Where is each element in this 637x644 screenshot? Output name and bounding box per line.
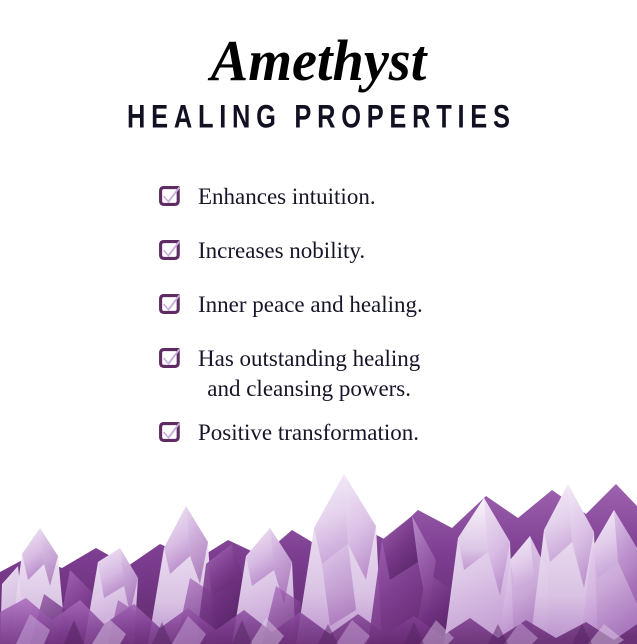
checked-checkbox-icon xyxy=(158,184,182,208)
checked-checkbox-icon xyxy=(158,346,182,370)
amethyst-crystal-cluster xyxy=(0,444,637,644)
checked-checkbox-icon xyxy=(158,420,182,444)
checked-checkbox-icon xyxy=(158,238,182,262)
list-item: Inner peace and healing. xyxy=(0,290,637,320)
list-item-label: Has outstanding healing and cleansing po… xyxy=(182,344,420,404)
list-item-label: Increases nobility. xyxy=(182,236,365,266)
amethyst-infographic: Amethyst HEALING PROPERTIES Enhances int… xyxy=(0,0,637,644)
list-item: Has outstanding healing and cleansing po… xyxy=(0,344,637,404)
checked-checkbox-icon xyxy=(158,292,182,316)
list-item-label: Inner peace and healing. xyxy=(182,290,423,320)
list-item: Increases nobility. xyxy=(0,236,637,266)
header: Amethyst HEALING PROPERTIES xyxy=(0,30,637,134)
list-item-label: Enhances intuition. xyxy=(182,182,376,212)
page-subtitle: HEALING PROPERTIES xyxy=(57,99,579,135)
page-title: Amethyst xyxy=(10,30,628,92)
properties-list: Enhances intuition. Increases nobility. … xyxy=(0,182,637,472)
list-item: Enhances intuition. xyxy=(0,182,637,212)
